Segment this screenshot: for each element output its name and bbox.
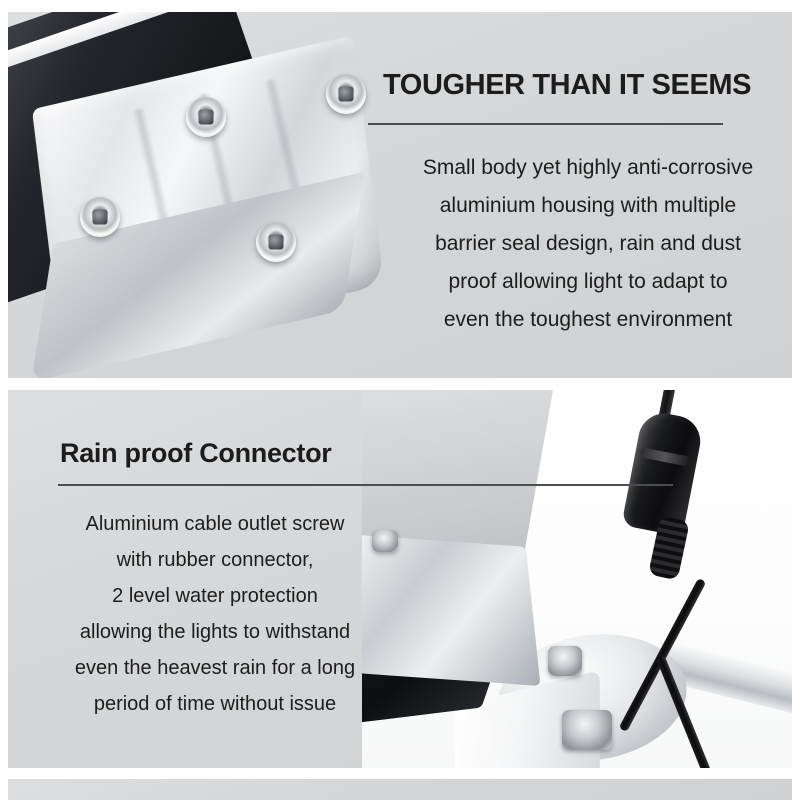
- body-line: proof allowing light to adapt to: [388, 263, 788, 301]
- section-two-heading: Rain proof Connector: [60, 438, 332, 469]
- section-one-heading-rule: [368, 123, 723, 125]
- hex-bolt-icon: [548, 646, 582, 676]
- section-next-panel-cropped: [8, 779, 792, 800]
- rain-proof-connector-photo: [362, 390, 792, 768]
- hex-bolt-icon: [326, 74, 366, 114]
- body-line: allowing the lights to withstand: [35, 614, 395, 650]
- body-line: Aluminium cable outlet screw: [35, 506, 395, 542]
- body-line: even the toughest environment: [388, 301, 788, 339]
- body-line: Small body yet highly anti-corrosive: [388, 149, 788, 187]
- hex-bolt-icon: [186, 97, 226, 137]
- body-line: 2 level water protection: [35, 578, 395, 614]
- section-two-body: Aluminium cable outlet screw with rubber…: [35, 506, 395, 722]
- hex-bolt-icon: [562, 710, 612, 750]
- hex-bolt-icon: [256, 222, 296, 262]
- section-one-heading: TOUGHER THAN IT SEEMS: [383, 69, 783, 102]
- body-line: with rubber connector,: [35, 542, 395, 578]
- section-one-body: Small body yet highly anti-corrosive alu…: [388, 149, 788, 339]
- body-line: aluminium housing with multiple: [388, 187, 788, 225]
- hex-bolt-icon: [80, 197, 120, 237]
- aluminium-housing-photo: [8, 12, 408, 378]
- section-two-heading-rule: [58, 484, 673, 486]
- section-tougher-than-it-seems: TOUGHER THAN IT SEEMS Small body yet hig…: [8, 12, 792, 378]
- body-line: barrier seal design, rain and dust: [388, 225, 788, 263]
- body-line: period of time without issue: [35, 686, 395, 722]
- product-feature-page: TOUGHER THAN IT SEEMS Small body yet hig…: [0, 0, 800, 800]
- body-line: even the heavest rain for a long: [35, 650, 395, 686]
